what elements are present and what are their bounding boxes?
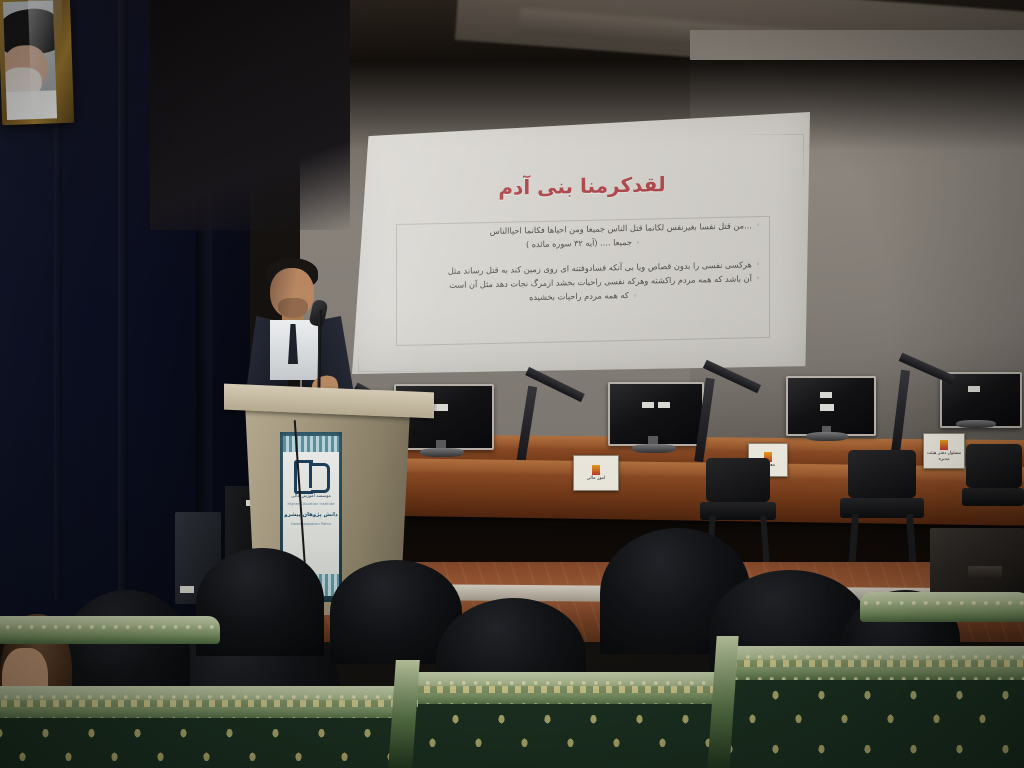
monitor-brand-label — [642, 402, 654, 408]
chair-back — [966, 444, 1022, 488]
seat-body — [718, 680, 1024, 768]
monitor-power-label — [658, 402, 670, 408]
portrait-glass-glare — [28, 0, 67, 126]
monitor-base — [806, 432, 848, 441]
seat-body-pattern — [718, 680, 1024, 768]
seat-backrest — [860, 592, 1024, 622]
framed-portrait — [0, 0, 74, 125]
monitor — [608, 382, 700, 442]
curtain-shadow — [150, 0, 350, 230]
seat-body-pattern — [0, 718, 418, 768]
banner-name-en: Daneshpajoohan Pishro — [283, 522, 339, 526]
seat-row — [860, 592, 1024, 622]
seat-body — [398, 704, 734, 768]
monitor-brand-label — [820, 392, 832, 398]
book-right-page — [311, 463, 330, 493]
laptop-hinge — [968, 566, 1002, 580]
seat-pattern — [0, 616, 220, 644]
chair-leg — [760, 516, 769, 566]
seat-gold-trim — [718, 660, 1024, 667]
seat-body-pattern — [398, 704, 734, 768]
banner-institute-fa: موسسه آموزش عالی — [283, 494, 339, 499]
photo-scene: لقدکرمنا بنی آدم ◦...من قتل نفسا بغیرنفس… — [0, 0, 1024, 768]
projection-screen: لقدکرمنا بنی آدم ◦...من قتل نفسا بغیرنفس… — [352, 112, 810, 374]
banner-name-fa: دانش پژوهان پیشرو — [283, 512, 339, 518]
monitor-base — [956, 420, 996, 428]
nameplate: امور مالی — [573, 455, 619, 491]
seat-gold-trim — [398, 686, 734, 693]
banner-institute-en: Higher Education Institute — [283, 502, 339, 506]
face-shadow — [270, 268, 314, 318]
monitor-base — [632, 444, 676, 453]
seat-body — [0, 718, 418, 768]
seat-row — [0, 616, 220, 644]
curtain-fold — [118, 0, 128, 600]
nameplate-text: مسئول دفتر هیئت مدیره — [924, 451, 964, 462]
chair-seat — [962, 488, 1024, 506]
seat-gold-trim — [0, 700, 418, 707]
monitor-brand-label — [968, 386, 980, 392]
monitor — [786, 376, 872, 432]
laptop-screen — [930, 528, 1024, 594]
banner-top-ornament — [283, 436, 339, 452]
screen-glare — [352, 112, 810, 374]
chair-back — [706, 458, 770, 502]
seat-pattern — [860, 592, 1024, 622]
chair — [840, 450, 924, 570]
loudspeaker-label — [180, 586, 194, 593]
emblem-icon — [940, 440, 948, 450]
emblem-icon — [592, 465, 600, 475]
monitor-sticker — [820, 404, 834, 411]
seat-backrest — [0, 616, 220, 644]
nameplate: مسئول دفتر هیئت مدیره — [923, 433, 965, 469]
nameplate-text: امور مالی — [587, 476, 606, 482]
chair-back — [848, 450, 916, 498]
